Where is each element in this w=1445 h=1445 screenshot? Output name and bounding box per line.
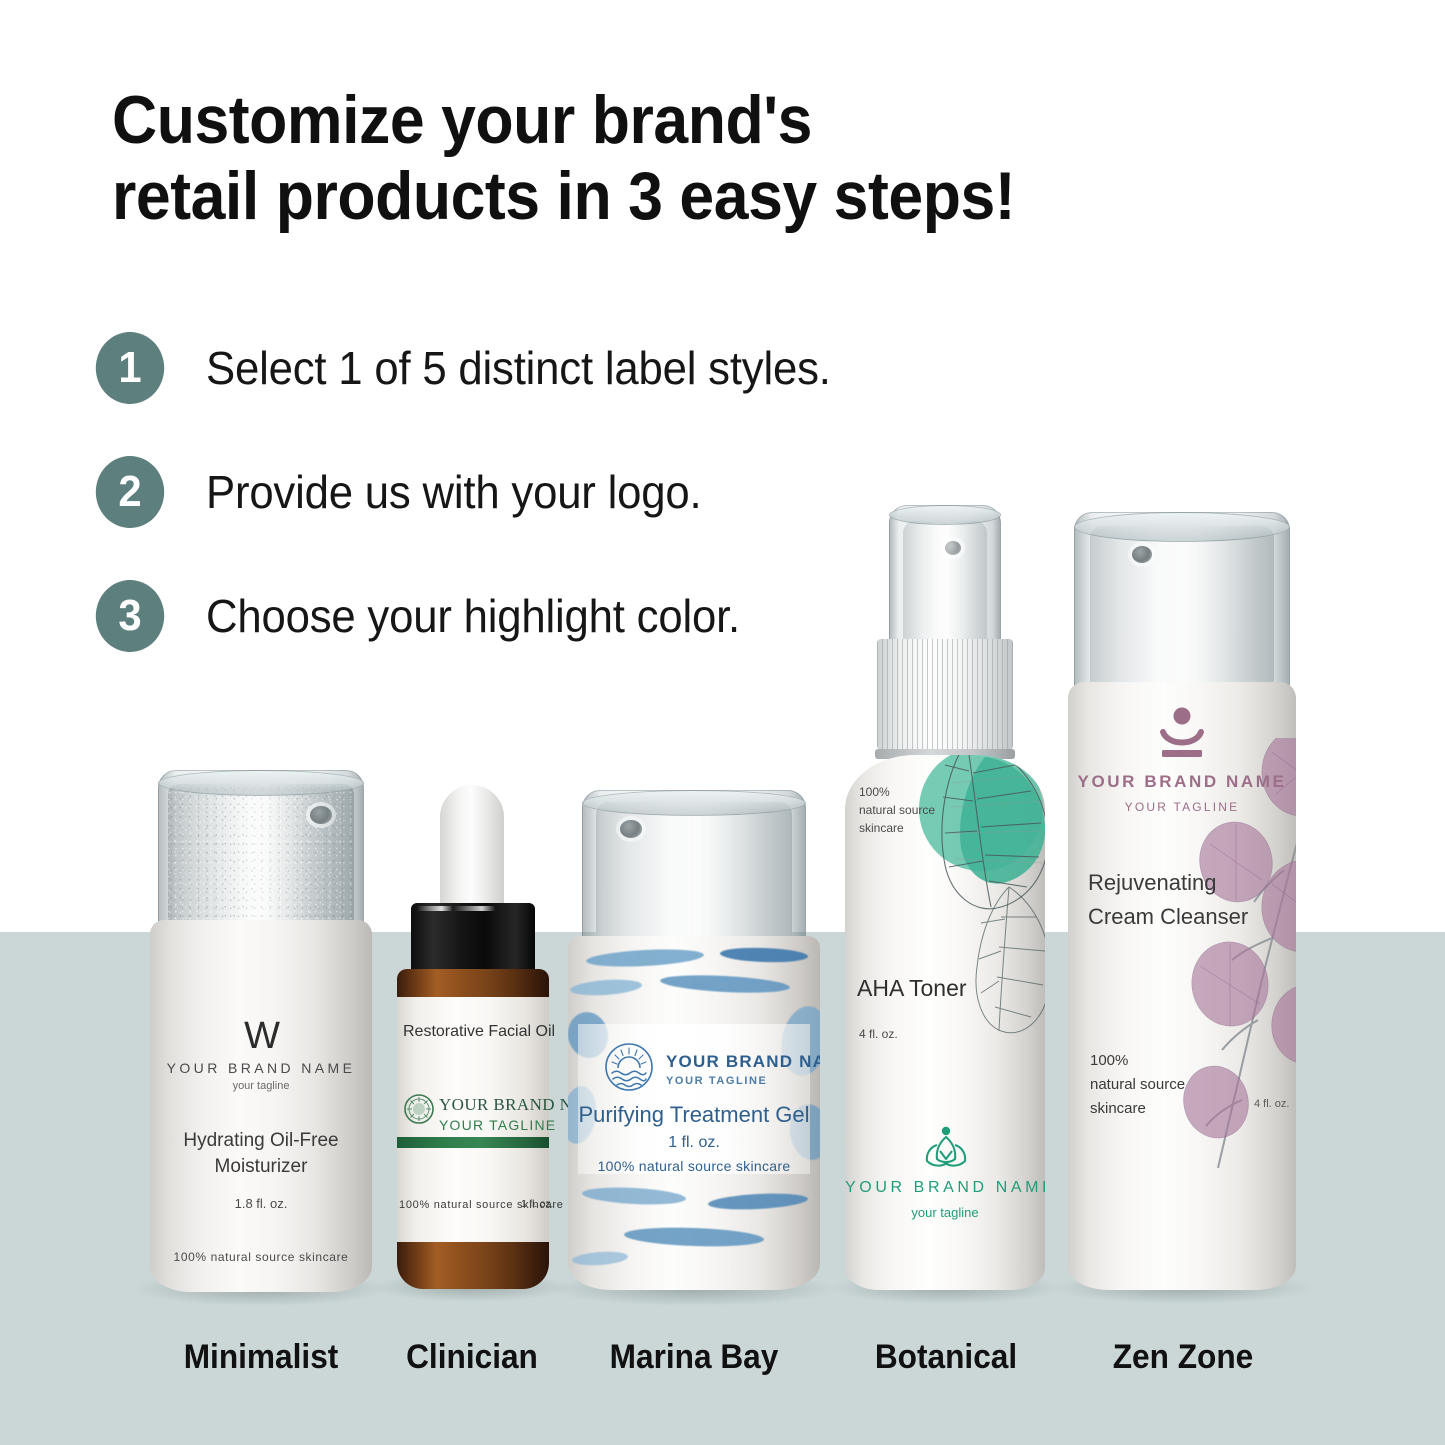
product-name-minimalist-line1: Hydrating Oil-Free bbox=[150, 1130, 372, 1152]
tagline-marina: YOUR TAGLINE bbox=[666, 1075, 768, 1087]
product-zen-zone: YOUR BRAND NAME YOUR TAGLINE Rejuvenatin… bbox=[1068, 512, 1296, 1290]
tagline-minimalist: your tagline bbox=[150, 1080, 372, 1092]
clear-dome-cap bbox=[582, 790, 806, 944]
claim-minimalist: 100% natural source skincare bbox=[150, 1250, 372, 1264]
claim-zen-line1: 100% bbox=[1090, 1052, 1128, 1069]
clear-dome-cap bbox=[158, 770, 364, 930]
watercolor-stroke bbox=[660, 973, 791, 996]
watercolor-stroke bbox=[570, 978, 643, 998]
watercolor-stroke bbox=[708, 1191, 809, 1211]
product-name-marina: Purifying Treatment Gel bbox=[568, 1102, 820, 1128]
dropper-bulb bbox=[440, 785, 504, 915]
sun-over-waves-logo-icon bbox=[604, 1042, 654, 1092]
tagline-clinician: YOUR TAGLINE bbox=[439, 1117, 556, 1133]
watercolor-stroke bbox=[586, 947, 705, 969]
bottle-body-minimalist: W YOUR BRAND NAME your tagline Hydrating… bbox=[150, 920, 372, 1292]
caption-botanical: Botanical bbox=[836, 1338, 1055, 1377]
product-clinician: Restorative Facial Oil YOUR BRAND NAME Y… bbox=[385, 785, 560, 1290]
clear-overcap-dome bbox=[889, 505, 1001, 651]
dome-top-ellipse bbox=[582, 790, 806, 816]
watercolor-stroke bbox=[572, 1250, 629, 1267]
claim-botanical-line2: natural source bbox=[859, 803, 935, 817]
product-botanical: 100% natural source skincare AHA Toner 4… bbox=[845, 505, 1045, 1290]
product-name-clinician: Restorative Facial Oil bbox=[403, 1023, 555, 1041]
ribbed-collar bbox=[877, 639, 1013, 751]
clear-dome-cap bbox=[1074, 512, 1290, 692]
bottle-body-botanical: 100% natural source skincare AHA Toner 4… bbox=[845, 755, 1045, 1290]
volume-marina: 1 fl. oz. bbox=[568, 1134, 820, 1152]
volume-clinician: 1 fl. oz. bbox=[521, 1199, 553, 1210]
volume-minimalist: 1.8 fl. oz. bbox=[150, 1196, 372, 1211]
claim-botanical-line3: skincare bbox=[859, 821, 904, 835]
monstera-leaf-illustration bbox=[889, 755, 1045, 1051]
volume-zen: 4 fl. oz. bbox=[1254, 1098, 1289, 1110]
product-name-minimalist-line2: Moisturizer bbox=[150, 1156, 372, 1178]
dome-top-ellipse bbox=[889, 505, 1001, 525]
watercolor-stroke bbox=[582, 1185, 687, 1206]
tagline-zen: YOUR TAGLINE bbox=[1068, 800, 1296, 814]
tagline-botanical: your tagline bbox=[845, 1205, 1045, 1220]
pump-cap-zen bbox=[1074, 512, 1290, 690]
product-name-botanical: AHA Toner bbox=[857, 975, 967, 1002]
claim-botanical-line1: 100% bbox=[859, 785, 890, 799]
w-logo-icon: W bbox=[150, 1016, 372, 1056]
dome-top-ellipse bbox=[158, 770, 364, 796]
caption-marina: Marina Bay bbox=[558, 1338, 830, 1377]
claim-zen-line2: natural source bbox=[1090, 1076, 1185, 1093]
bottle-body-zen: YOUR BRAND NAME YOUR TAGLINE Rejuvenatin… bbox=[1068, 682, 1296, 1290]
volume-botanical: 4 fl. oz. bbox=[859, 1027, 898, 1041]
product-minimalist: W YOUR BRAND NAME your tagline Hydrating… bbox=[150, 770, 372, 1290]
claim-zen-line3: skincare bbox=[1090, 1100, 1146, 1117]
dome-top-ellipse bbox=[1074, 512, 1290, 542]
svg-text:W: W bbox=[244, 1016, 280, 1056]
dropper-collar bbox=[411, 903, 535, 977]
brand-name-minimalist: YOUR BRAND NAME bbox=[150, 1060, 372, 1076]
caption-clinician: Clinician bbox=[379, 1338, 565, 1377]
product-lineup: W YOUR BRAND NAME your tagline Hydrating… bbox=[0, 0, 1445, 1445]
promo-graphic: Customize your brand's retail products i… bbox=[0, 0, 1445, 1445]
pump-cap-minimalist bbox=[158, 770, 364, 928]
caption-minimalist: Minimalist bbox=[158, 1338, 364, 1377]
watercolor-stroke bbox=[624, 1226, 765, 1249]
lotus-logo-icon bbox=[921, 1125, 971, 1173]
seal-medallion-icon bbox=[403, 1093, 435, 1125]
product-marina-bay: YOUR BRAND NAME YOUR TAGLINE Purifying T… bbox=[568, 790, 820, 1290]
brand-name-marina: YOUR BRAND NAME bbox=[666, 1052, 820, 1072]
watercolor-stroke bbox=[720, 946, 808, 963]
product-name-zen-line1: Rejuvenating bbox=[1088, 870, 1216, 896]
claim-marina: 100% natural source skincare bbox=[568, 1158, 820, 1174]
caption-zen: Zen Zone bbox=[1059, 1338, 1306, 1377]
pump-cap-marina bbox=[582, 790, 806, 942]
brand-name-zen: YOUR BRAND NAME bbox=[1068, 772, 1296, 792]
brand-name-botanical: YOUR BRAND NAME bbox=[845, 1179, 1045, 1197]
spray-overcap bbox=[889, 505, 1001, 653]
bottle-body-marina: YOUR BRAND NAME YOUR TAGLINE Purifying T… bbox=[568, 936, 820, 1290]
product-name-zen-line2: Cream Cleanser bbox=[1088, 904, 1248, 930]
zen-figure-logo-icon bbox=[1154, 706, 1210, 762]
accent-bar-clinician bbox=[397, 1137, 549, 1148]
